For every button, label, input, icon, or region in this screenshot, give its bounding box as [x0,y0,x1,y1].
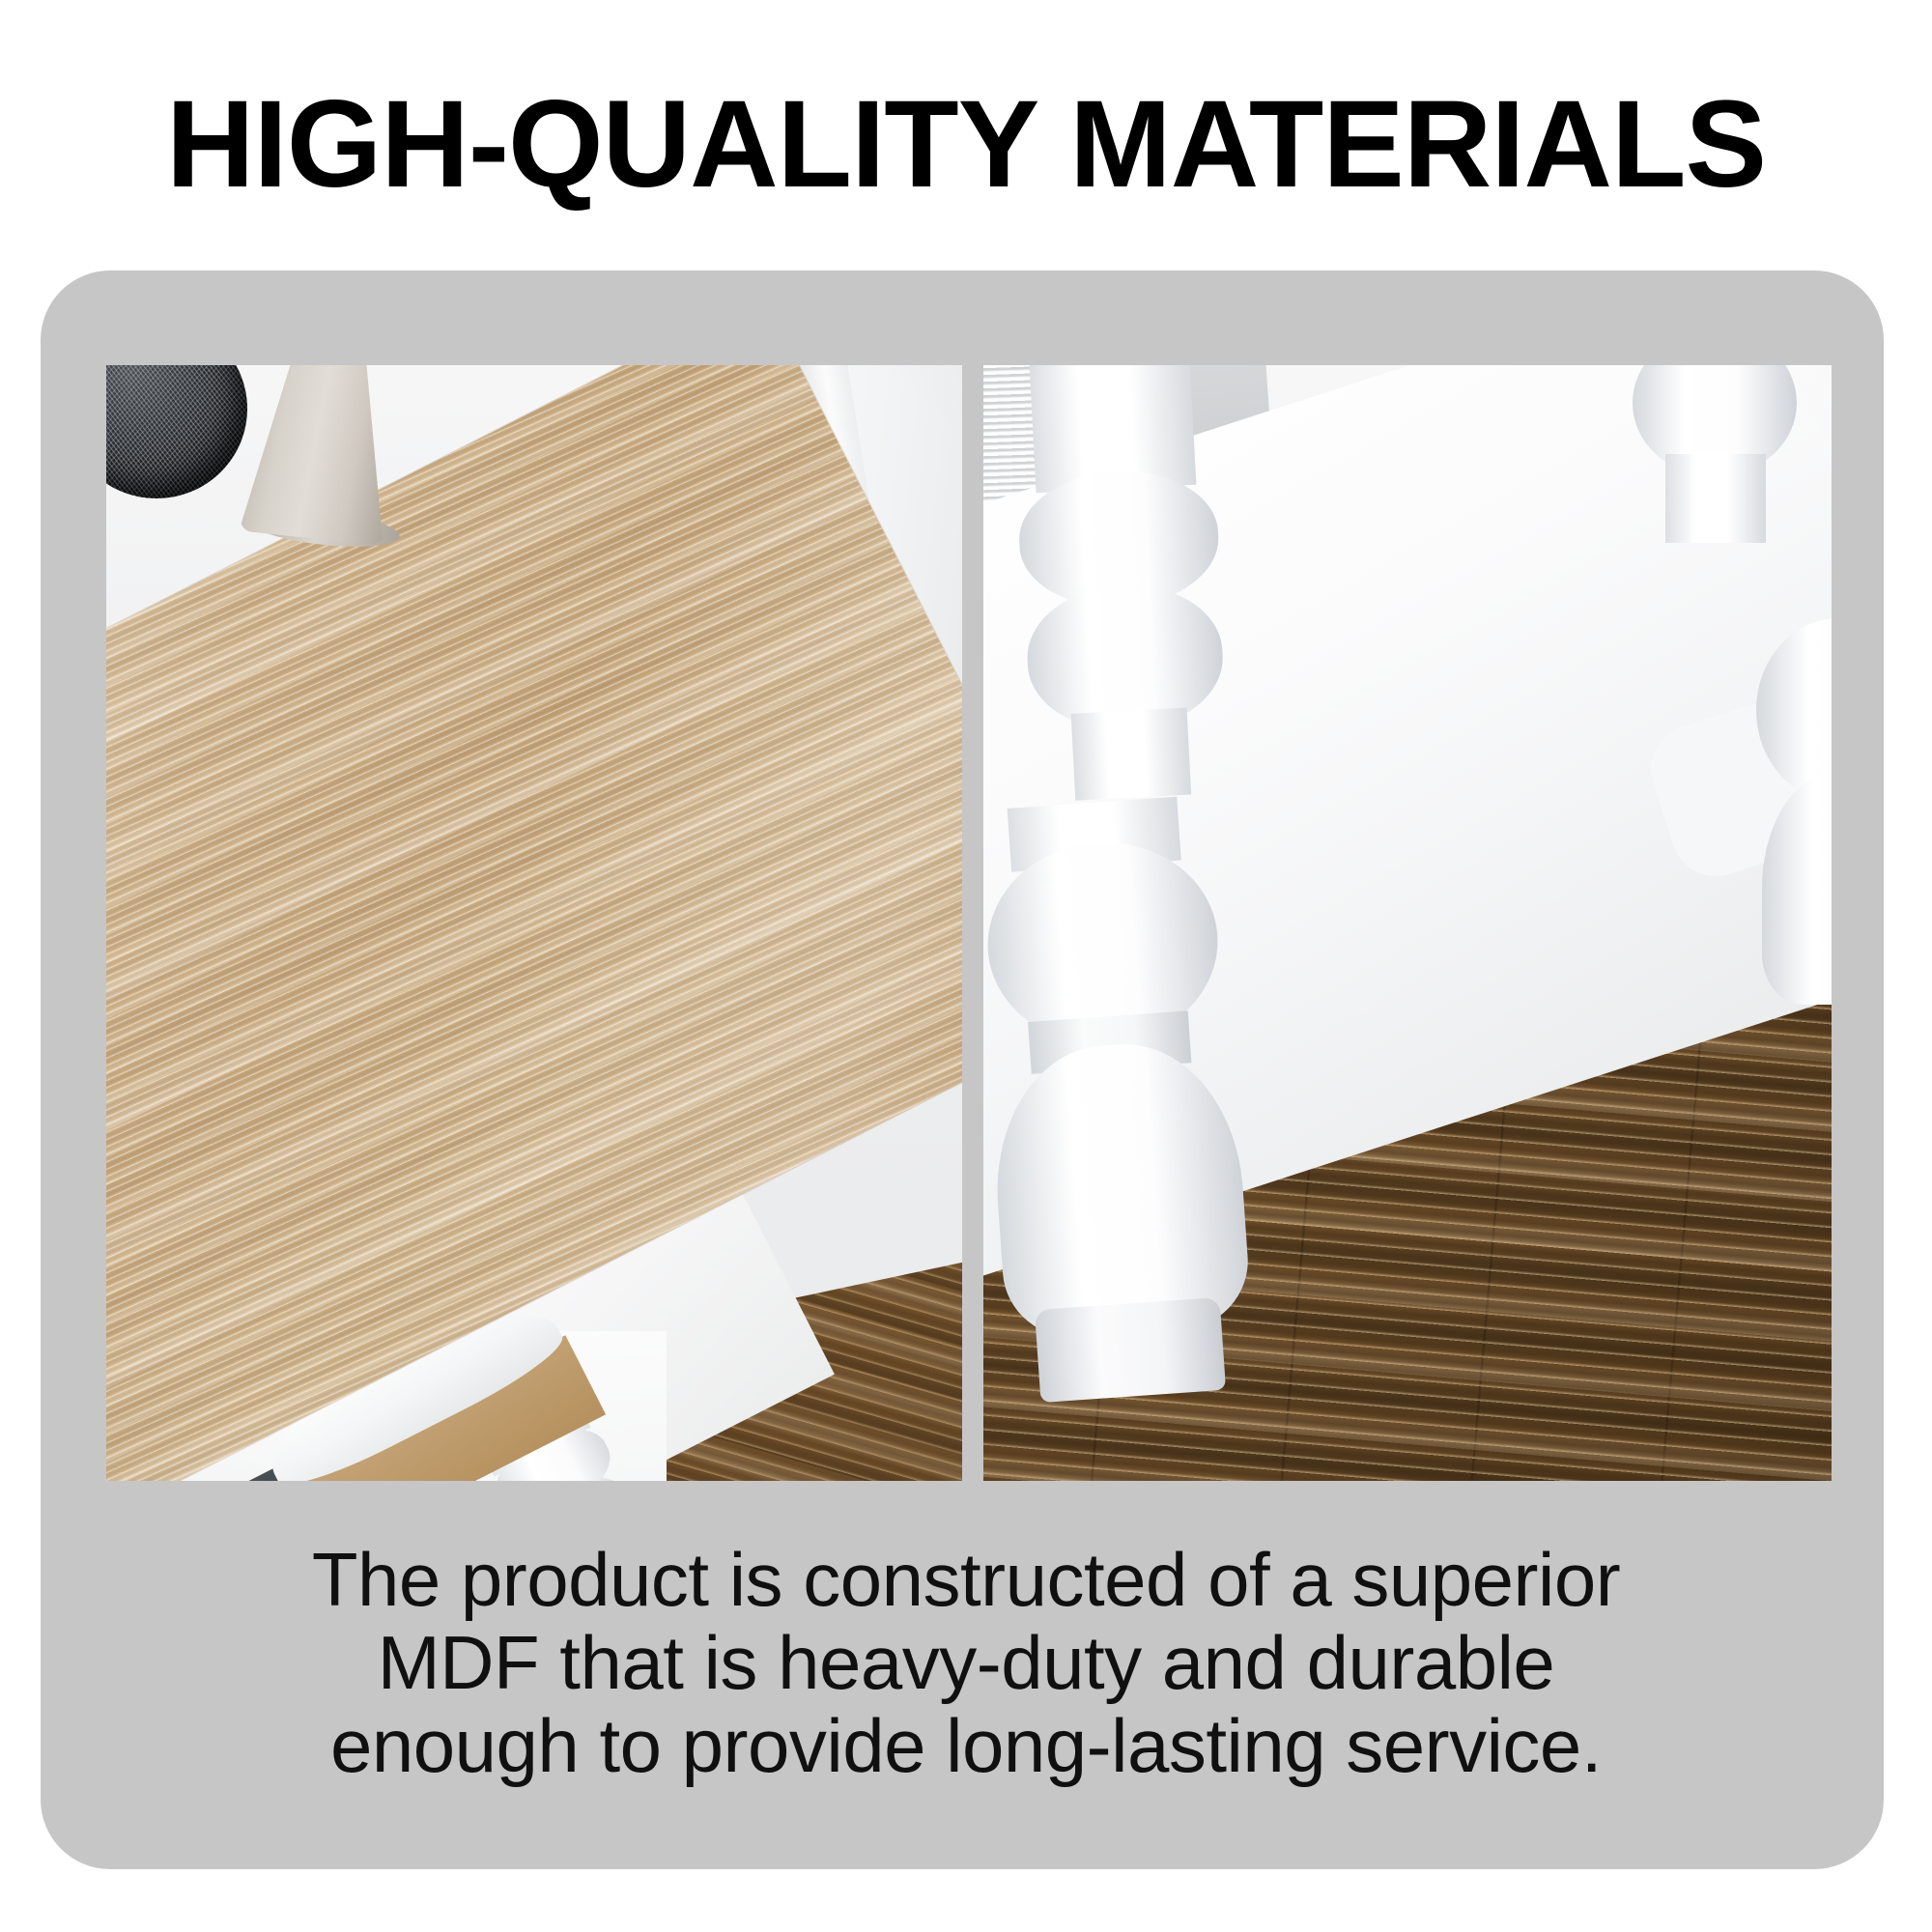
caption-text: The product is constructed of a superior… [116,1538,1816,1787]
leg-foot [1035,1297,1226,1403]
white-turned-leg-far [1633,365,1797,572]
white-turned-leg-edge [1756,618,1832,1024]
white-turned-leg-upper [1007,365,1233,785]
leg-bulb-edge-lower [1762,773,1832,1005]
leg-shaft-bottom [1071,708,1192,801]
white-turned-leg-lower [983,793,1264,1408]
leg-shaft-far [1665,454,1766,543]
page-title: HIGH-QUALITY MATERIALS [10,83,1922,207]
caption-line-1: The product is constructed of a superior [116,1538,1816,1621]
caption-line-3: enough to provide long-lasting service. [116,1704,1816,1787]
photo-natural-oak-tabletop [106,365,962,1481]
caption-line-2: MDF that is heavy-duty and durable [116,1621,1816,1704]
leg-bulb-lower-main [987,1037,1252,1343]
product-feature-card: HIGH-QUALITY MATERIALS [0,0,1932,1932]
photo-white-turned-legs [983,365,1832,1481]
